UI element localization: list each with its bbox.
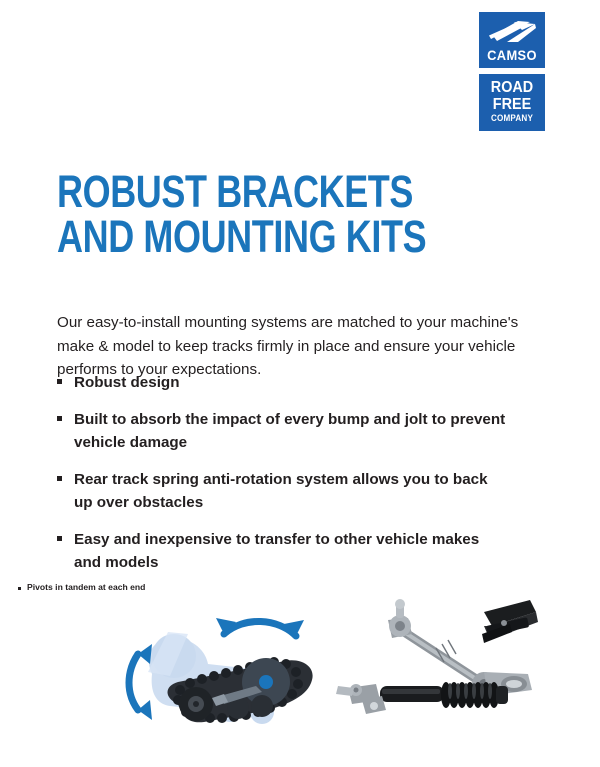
- pivot-arc-arrow-left: [129, 644, 152, 720]
- square-bullet-icon: [18, 587, 21, 590]
- camso-logo: CAMSO: [479, 12, 545, 68]
- mounting-bracket-hardware-photo: [332, 596, 538, 726]
- square-bullet-icon: [57, 476, 62, 481]
- footnote-label: Pivots in tandem at each end: [27, 582, 145, 593]
- camso-wordmark: CAMSO: [482, 47, 543, 63]
- road-free-company-badge: ROAD FREE COMPANY: [479, 74, 545, 131]
- list-item-label: Robust design: [74, 371, 179, 394]
- page-title-line-1: ROBUST BRACKETS: [57, 169, 433, 214]
- square-bullet-icon: [57, 536, 62, 541]
- list-item: Built to absorb the impact of every bump…: [57, 408, 507, 454]
- brand-logo-stack: CAMSO ROAD FREE COMPANY: [479, 12, 545, 131]
- pivot-arc-arrow-top: [216, 618, 304, 636]
- square-bullet-icon: [57, 416, 62, 421]
- list-item-label: Rear track spring anti-rotation system a…: [74, 468, 507, 514]
- coil-spring-anti-rotation-assembly: [336, 682, 508, 714]
- road-free-line-2: FREE: [482, 96, 541, 113]
- list-item: Rear track spring anti-rotation system a…: [57, 468, 507, 514]
- illustration-area: [0, 596, 600, 736]
- list-item: Easy and inexpensive to transfer to othe…: [57, 528, 507, 574]
- page-title-line-2: AND MOUNTING KITS: [57, 214, 433, 259]
- page-title: ROBUST BRACKETS AND MOUNTING KITS: [57, 169, 527, 259]
- list-item-label: Built to absorb the impact of every bump…: [74, 408, 507, 454]
- road-free-line-3: COMPANY: [482, 113, 541, 124]
- footnote: Pivots in tandem at each end: [18, 582, 145, 593]
- feature-list: Robust design Built to absorb the impact…: [57, 371, 507, 588]
- list-item-label: Easy and inexpensive to transfer to othe…: [74, 528, 507, 574]
- camso-swoosh-icon: [487, 19, 537, 44]
- list-item: Robust design: [57, 371, 507, 394]
- square-bullet-icon: [57, 379, 62, 384]
- road-free-line-1: ROAD: [482, 80, 541, 96]
- black-rail-bracket: [482, 600, 538, 643]
- rubber-track-pivot-diagram: [112, 600, 322, 730]
